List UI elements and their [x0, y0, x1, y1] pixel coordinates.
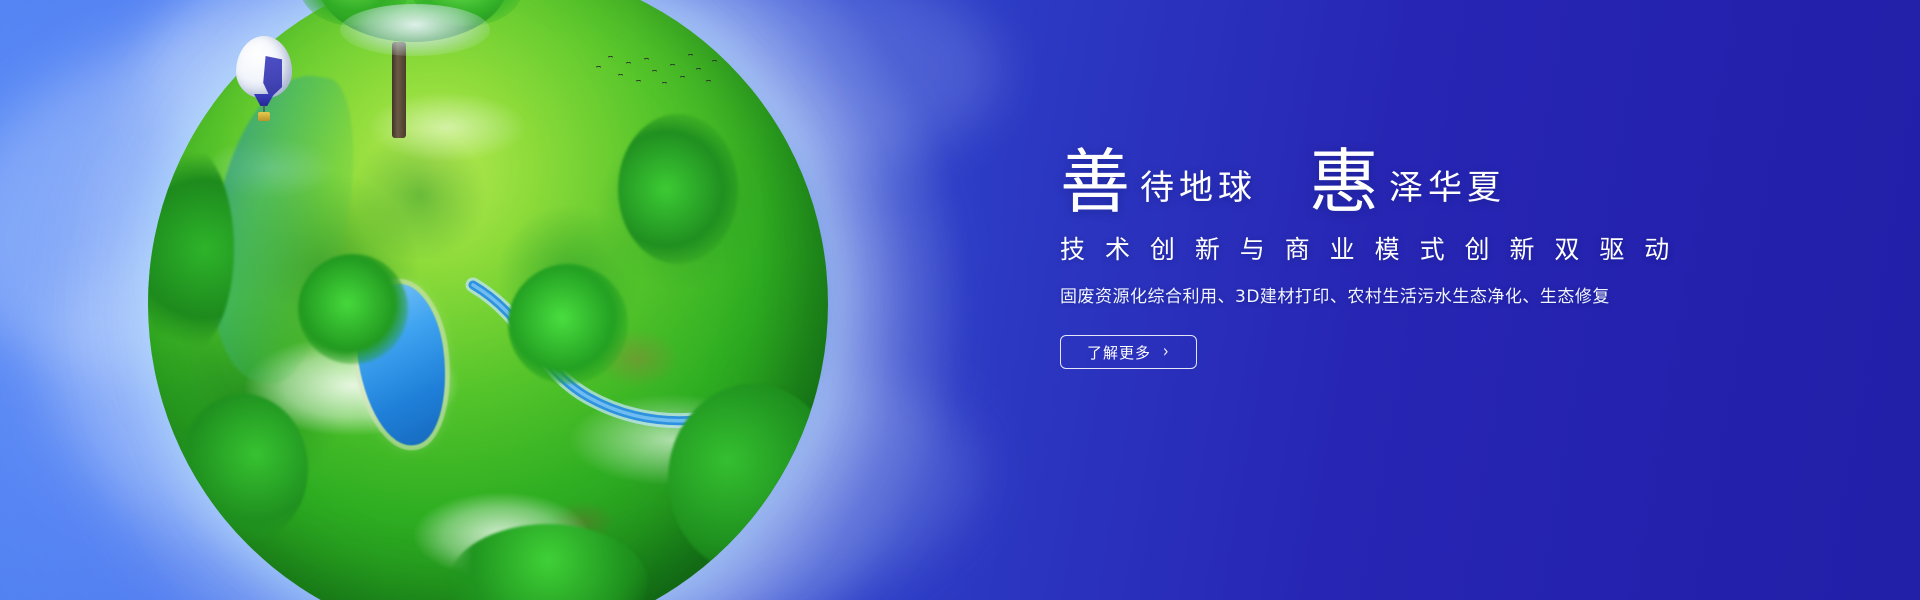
bird-icon — [644, 58, 649, 61]
tree-trunk — [392, 42, 406, 138]
subheadline: 技 术 创 新 与 商 业 模 式 创 新 双 驱 动 — [1060, 230, 1760, 266]
hot-air-balloon — [236, 36, 292, 122]
bird-icon — [680, 76, 685, 79]
canopy-fringe — [618, 114, 738, 264]
headline-lead-char-2: 惠 — [1309, 149, 1379, 216]
tree — [300, 0, 520, 144]
learn-more-label: 了解更多 — [1087, 342, 1151, 363]
headline-rest-2: 泽华夏 — [1389, 171, 1506, 212]
learn-more-button[interactable]: 了解更多 › — [1060, 335, 1197, 369]
balloon-basket — [258, 112, 270, 121]
headline-rest-1: 待地球 — [1140, 171, 1257, 212]
bird-icon — [706, 80, 711, 83]
bird-icon — [688, 54, 693, 57]
bird-icon — [626, 62, 631, 65]
canopy-fringe — [448, 524, 648, 600]
chevron-right-icon: › — [1163, 342, 1170, 362]
canopy-fringe — [508, 264, 628, 384]
bird-icon — [662, 82, 667, 85]
bird-icon — [652, 70, 657, 73]
hero-banner: 善 待地球 惠 泽华夏 技 术 创 新 与 商 业 模 式 创 新 双 驱 动 … — [0, 0, 1920, 600]
bird-icon — [696, 68, 701, 71]
tree-canopy — [340, 4, 490, 56]
bird-icon — [618, 74, 623, 77]
page-title: 善 待地球 惠 泽华夏 — [1060, 128, 1760, 212]
headline-group-2: 惠 泽华夏 — [1309, 145, 1506, 212]
hero-copy: 善 待地球 惠 泽华夏 技 术 创 新 与 商 业 模 式 创 新 双 驱 动 … — [1060, 128, 1760, 369]
canopy-fringe — [298, 254, 408, 364]
headline-lead-char-1: 善 — [1060, 149, 1130, 216]
canopy-fringe — [178, 394, 308, 544]
description-text: 固废资源化综合利用、3D建材打印、农村生活污水生态净化、生态修复 — [1060, 282, 1760, 307]
bird-icon — [596, 66, 601, 69]
headline-group-1: 善 待地球 — [1060, 145, 1257, 212]
bird-icon — [608, 56, 613, 59]
balloon-envelope — [236, 36, 292, 98]
bird-icon — [670, 64, 675, 67]
canopy-fringe — [668, 384, 828, 574]
bird-icon — [636, 80, 641, 83]
bird-icon — [712, 60, 717, 63]
bird-flock — [592, 52, 722, 94]
